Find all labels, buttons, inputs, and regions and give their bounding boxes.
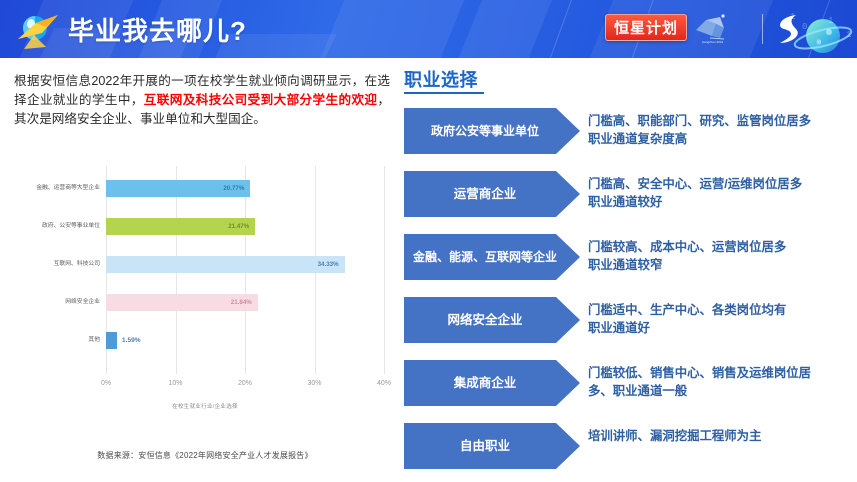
chart-value-label: 34.33% <box>318 256 339 273</box>
svg-text:Hangzhou 2022: Hangzhou 2022 <box>702 40 724 44</box>
career-desc-line: 多、职业通道一般 <box>588 382 850 400</box>
planet-icon <box>16 9 60 51</box>
career-desc-line: 门槛较高、成本中心、运营岗位居多 <box>588 238 850 256</box>
chart-x-tick: 40% <box>377 380 391 387</box>
chart-value-label: 21.47% <box>228 218 249 235</box>
career-item-arrow-label[interactable]: 自由职业 <box>404 423 580 469</box>
career-panel-title: 职业选择 <box>404 66 478 92</box>
employment-bar-chart: 0%10%20%30%40%金融、运营商等大型企业20.77%政府、公安等事业单… <box>18 150 392 425</box>
chart-gridline <box>384 166 385 374</box>
career-item-arrow-label[interactable]: 运营商企业 <box>404 171 580 217</box>
career-item[interactable]: 金融、能源、互联网等企业门槛较高、成本中心、运营岗位居多职业通道较窄 <box>404 234 850 280</box>
data-source-note: 数据来源：安恒信息《2022年网络安全产业人才发展报告》 <box>18 450 392 461</box>
chart-x-tick: 30% <box>307 380 321 387</box>
career-desc-line: 职业通道复杂度高 <box>588 130 850 148</box>
career-item[interactable]: 网络安全企业门槛适中、生产中心、各类岗位均有职业通道好 <box>404 297 850 343</box>
decor-digit: 1 <box>846 30 851 40</box>
career-desc-line: 门槛较低、销售中心、销售及运维岗位居 <box>588 364 850 382</box>
chart-bar-row: 其他1.59% <box>106 332 384 349</box>
career-item[interactable]: 政府公安等事业单位门槛高、职能部门、研究、监管岗位居多职业通道复杂度高 <box>404 108 850 154</box>
career-item-description: 门槛高、职能部门、研究、监管岗位居多职业通道复杂度高 <box>588 112 850 148</box>
chart-bar <box>106 256 345 273</box>
intro-paragraph: 根据安恒信息2022年开展的一项在校学生就业倾向调研显示，在选择企业就业的学生中… <box>14 72 390 129</box>
career-item-arrow-label[interactable]: 集成商企业 <box>404 360 580 406</box>
chart-x-tick: 0% <box>101 380 111 387</box>
career-desc-line: 门槛高、安全中心、运营/运维岗位居多 <box>588 175 850 193</box>
decor-digit: 0 <box>802 22 807 32</box>
decor-digit: 1 <box>828 16 833 26</box>
career-desc-line: 培训讲师、漏洞挖掘工程师为主 <box>588 427 850 445</box>
career-item-arrow-label[interactable]: 政府公安等事业单位 <box>404 108 580 154</box>
career-item-description: 培训讲师、漏洞挖掘工程师为主 <box>588 427 850 445</box>
chart-bar-row: 网络安全企业21.84% <box>106 294 384 311</box>
chart-bar <box>106 332 117 349</box>
chart-category-label: 网络安全企业 <box>65 295 100 310</box>
chart-category-label: 互联网、科技公司 <box>54 257 100 272</box>
banner-facet <box>446 0 564 58</box>
logo-divider <box>762 14 763 44</box>
career-item-description: 门槛高、安全中心、运营/运维岗位居多职业通道较好 <box>588 175 850 211</box>
career-item[interactable]: 运营商企业门槛高、安全中心、运营/运维岗位居多职业通道较好 <box>404 171 850 217</box>
career-choice-panel: 职业选择 政府公安等事业单位门槛高、职能部门、研究、监管岗位居多职业通道复杂度高… <box>404 66 850 476</box>
chart-x-axis-title: 在校生就业行业/企业选择 <box>18 402 392 410</box>
decor-digit: 1 <box>790 12 795 22</box>
career-item-description: 门槛较低、销售中心、销售及运维岗位居多、职业通道一般 <box>588 364 850 400</box>
career-item-description: 门槛适中、生产中心、各类岗位均有职业通道好 <box>588 301 850 337</box>
career-item-arrow-label[interactable]: 网络安全企业 <box>404 297 580 343</box>
hengxing-program-logo: 恒星计划 <box>605 14 687 41</box>
ringed-planet-icon <box>792 14 854 58</box>
chart-category-label: 其他 <box>88 333 100 348</box>
chart-bar-row: 政府、公安等事业单位21.47% <box>106 218 384 235</box>
decor-digit: 0 <box>816 38 821 48</box>
career-desc-line: 门槛适中、生产中心、各类岗位均有 <box>588 301 850 319</box>
title-underline <box>404 92 484 94</box>
chart-x-tick: 10% <box>168 380 182 387</box>
page-title: 毕业我去哪儿? <box>68 11 247 48</box>
header-banner: 毕业我去哪儿? 恒星计划 Hangzhou 2022 <box>0 0 857 58</box>
career-desc-line: 门槛高、职能部门、研究、监管岗位居多 <box>588 112 850 130</box>
chart-category-label: 政府、公安等事业单位 <box>42 219 100 234</box>
chart-value-label: 20.77% <box>223 180 244 197</box>
career-desc-line: 职业通道较窄 <box>588 256 850 274</box>
chart-category-label: 金融、运营商等大型企业 <box>36 181 100 196</box>
chart-x-tick: 20% <box>238 380 252 387</box>
chart-value-label: 21.84% <box>231 294 252 311</box>
career-item[interactable]: 自由职业培训讲师、漏洞挖掘工程师为主 <box>404 423 850 469</box>
banner-facet <box>308 0 472 58</box>
career-desc-line: 职业通道好 <box>588 319 850 337</box>
career-desc-line: 职业通道较好 <box>588 193 850 211</box>
asian-games-logo-icon: Hangzhou 2022 <box>690 12 756 46</box>
chart-bar-row: 互联网、科技公司34.33% <box>106 256 384 273</box>
career-item-arrow-label[interactable]: 金融、能源、互联网等企业 <box>404 234 580 280</box>
career-item[interactable]: 集成商企业门槛较低、销售中心、销售及运维岗位居多、职业通道一般 <box>404 360 850 406</box>
chart-value-label: 1.59% <box>122 332 140 349</box>
chart-bar-row: 金融、运营商等大型企业20.77% <box>106 180 384 197</box>
slide-root: 毕业我去哪儿? 恒星计划 Hangzhou 2022 <box>0 0 857 482</box>
career-item-description: 门槛较高、成本中心、运营岗位居多职业通道较窄 <box>588 238 850 274</box>
chart-plot-area: 0%10%20%30%40%金融、运营商等大型企业20.77%政府、公安等事业单… <box>18 166 392 374</box>
intro-highlight: 互联网及科技公司受到大部分学生的欢迎 <box>144 93 378 107</box>
